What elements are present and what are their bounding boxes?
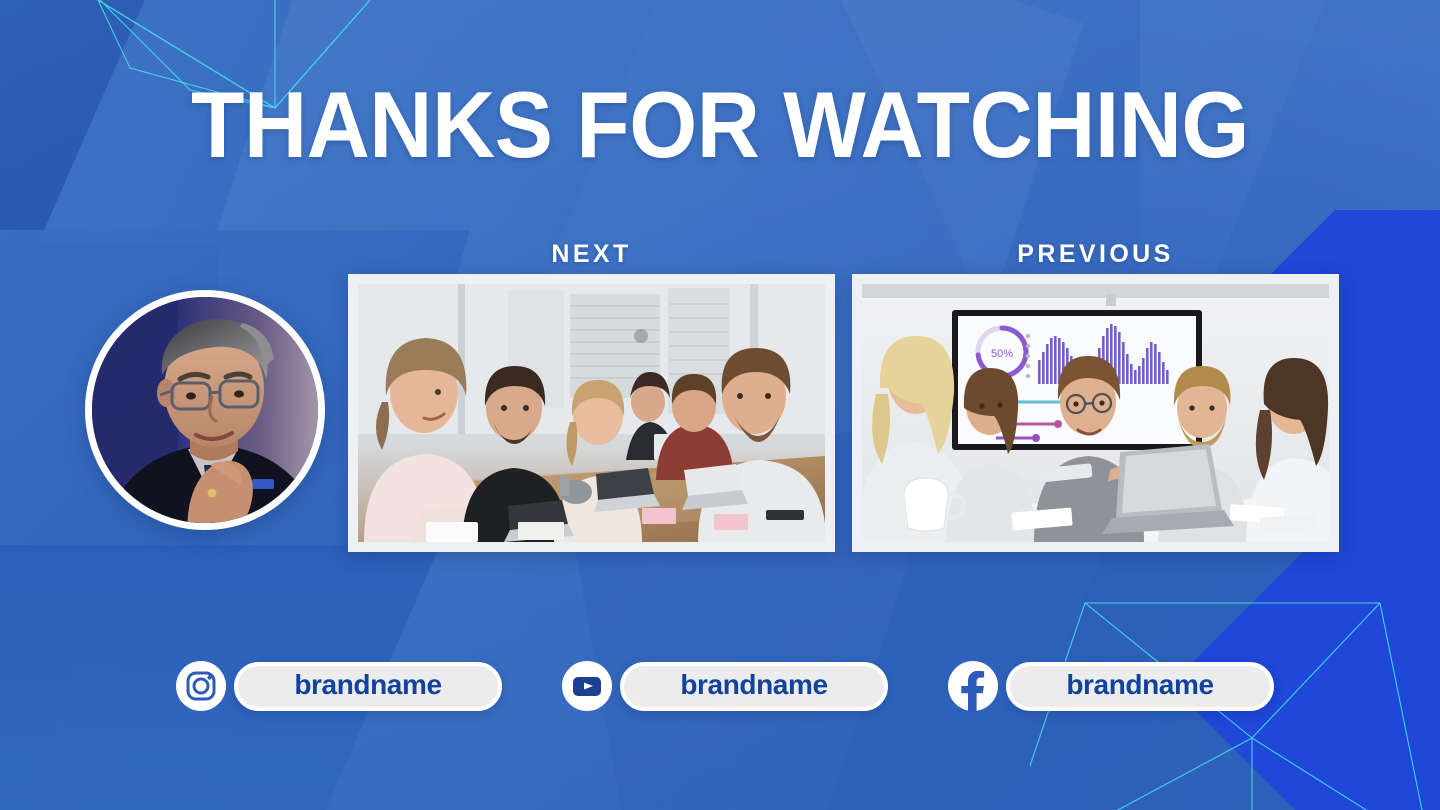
youtube-icon[interactable]	[561, 660, 613, 712]
card-previous-frame: 50%	[852, 274, 1339, 552]
avatar-photo	[92, 297, 318, 523]
social-link-instagram[interactable]: brandname	[175, 658, 502, 714]
avatar	[85, 290, 325, 530]
social-link-youtube[interactable]: brandname	[561, 658, 888, 714]
youtube-handle-label: brandname	[680, 669, 827, 701]
facebook-icon[interactable]	[947, 660, 999, 712]
page-title: THANKS FOR WATCHING	[50, 78, 1389, 172]
card-next-label: NEXT	[348, 240, 835, 269]
instagram-icon[interactable]	[175, 660, 227, 712]
youtube-handle-pill[interactable]: brandname	[620, 662, 888, 711]
card-previous-label: PREVIOUS	[852, 240, 1339, 269]
instagram-handle-pill[interactable]: brandname	[234, 662, 502, 711]
svg-text:50%: 50%	[991, 348, 1013, 360]
social-links-row: brandname brandname	[0, 658, 1440, 714]
social-link-facebook[interactable]: brandname	[947, 658, 1274, 714]
card-next-frame	[348, 274, 835, 552]
card-previous-photo: 50%	[862, 284, 1329, 542]
slide-canvas: THANKS FOR WATCHING	[0, 0, 1440, 810]
facebook-handle-label: brandname	[1066, 669, 1213, 701]
facebook-handle-pill[interactable]: brandname	[1006, 662, 1274, 711]
instagram-handle-label: brandname	[294, 669, 441, 701]
card-next-photo	[358, 284, 825, 542]
